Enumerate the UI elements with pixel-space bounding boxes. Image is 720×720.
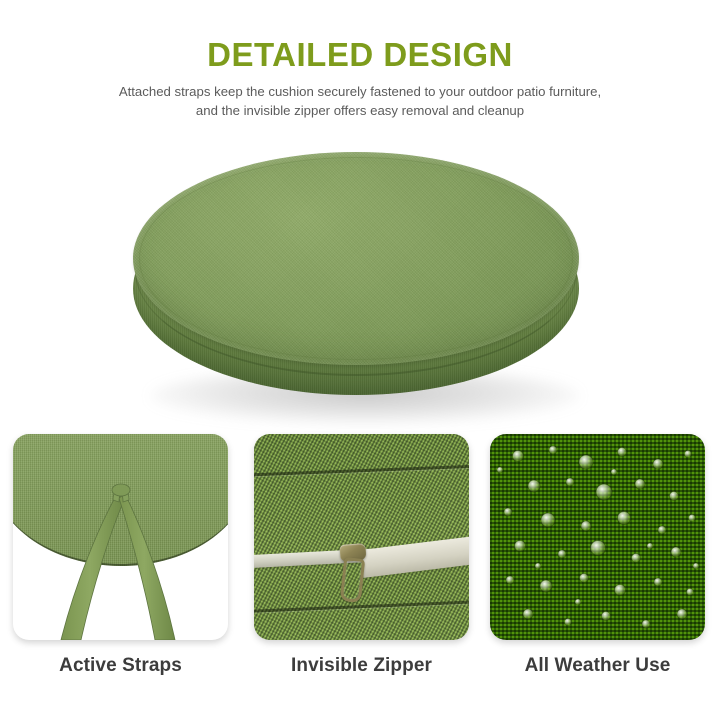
page-subtitle: Attached straps keep the cushion securel… — [40, 82, 680, 120]
feature-panel-all-weather-use — [490, 434, 705, 640]
water-droplets-icon — [490, 434, 705, 640]
caption-invisible-zipper: Invisible Zipper — [254, 655, 469, 677]
page-subtitle-line-1: Attached straps keep the cushion securel… — [119, 84, 601, 99]
header: DETAILED DESIGN Attached straps keep the… — [0, 38, 720, 120]
cushion-top-rim — [139, 157, 573, 360]
feature-captions: Active Straps Invisible Zipper All Weath… — [0, 655, 720, 695]
strap-ties-icon — [13, 434, 228, 640]
page-title: DETAILED DESIGN — [0, 38, 720, 73]
page-subtitle-line-2: and the invisible zipper offers easy rem… — [196, 103, 524, 118]
caption-active-straps: Active Straps — [13, 655, 228, 677]
feature-panels — [0, 434, 720, 644]
caption-all-weather-use: All Weather Use — [490, 655, 705, 677]
feature-panel-invisible-zipper — [254, 434, 469, 640]
feature-panel-active-straps — [13, 434, 228, 640]
round-cushion — [133, 152, 579, 395]
hero-product-image — [0, 140, 720, 418]
product-infographic: DETAILED DESIGN Attached straps keep the… — [0, 0, 720, 720]
